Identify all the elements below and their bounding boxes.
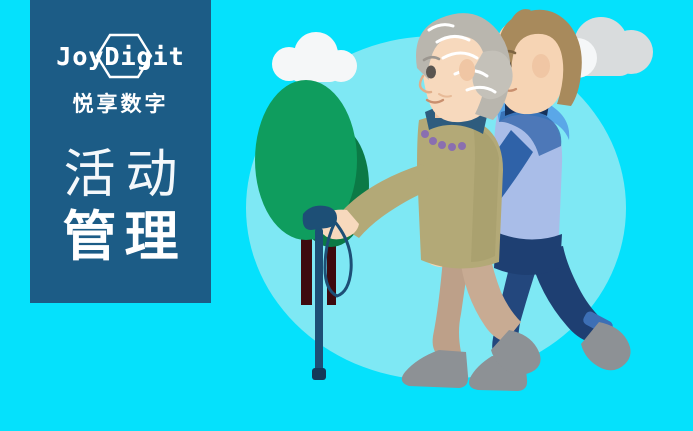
page-title-line-1: 活动 <box>30 144 211 206</box>
illustration-walking-scene <box>211 0 693 431</box>
cane-tip <box>312 368 326 380</box>
brand-logo: JoyDigit <box>51 33 191 79</box>
elderly-woman-ear <box>459 59 475 81</box>
logo-chinese-name: 悦享数字 <box>73 88 169 118</box>
cloud-white-left <box>272 32 357 82</box>
page-title: 活动 管理 <box>30 144 211 268</box>
elderly-woman-sweater-shade <box>471 126 499 262</box>
left-info-panel: JoyDigit 悦享数字 活动 管理 <box>30 0 211 303</box>
page-title-line-2: 管理 <box>30 206 211 268</box>
activity-management-banner: JoyDigit 悦享数字 活动 管理 <box>0 0 693 431</box>
elderly-woman-eye <box>426 66 436 79</box>
young-man-ear <box>532 54 550 78</box>
logo-wordmark: JoyDigit <box>51 33 191 79</box>
